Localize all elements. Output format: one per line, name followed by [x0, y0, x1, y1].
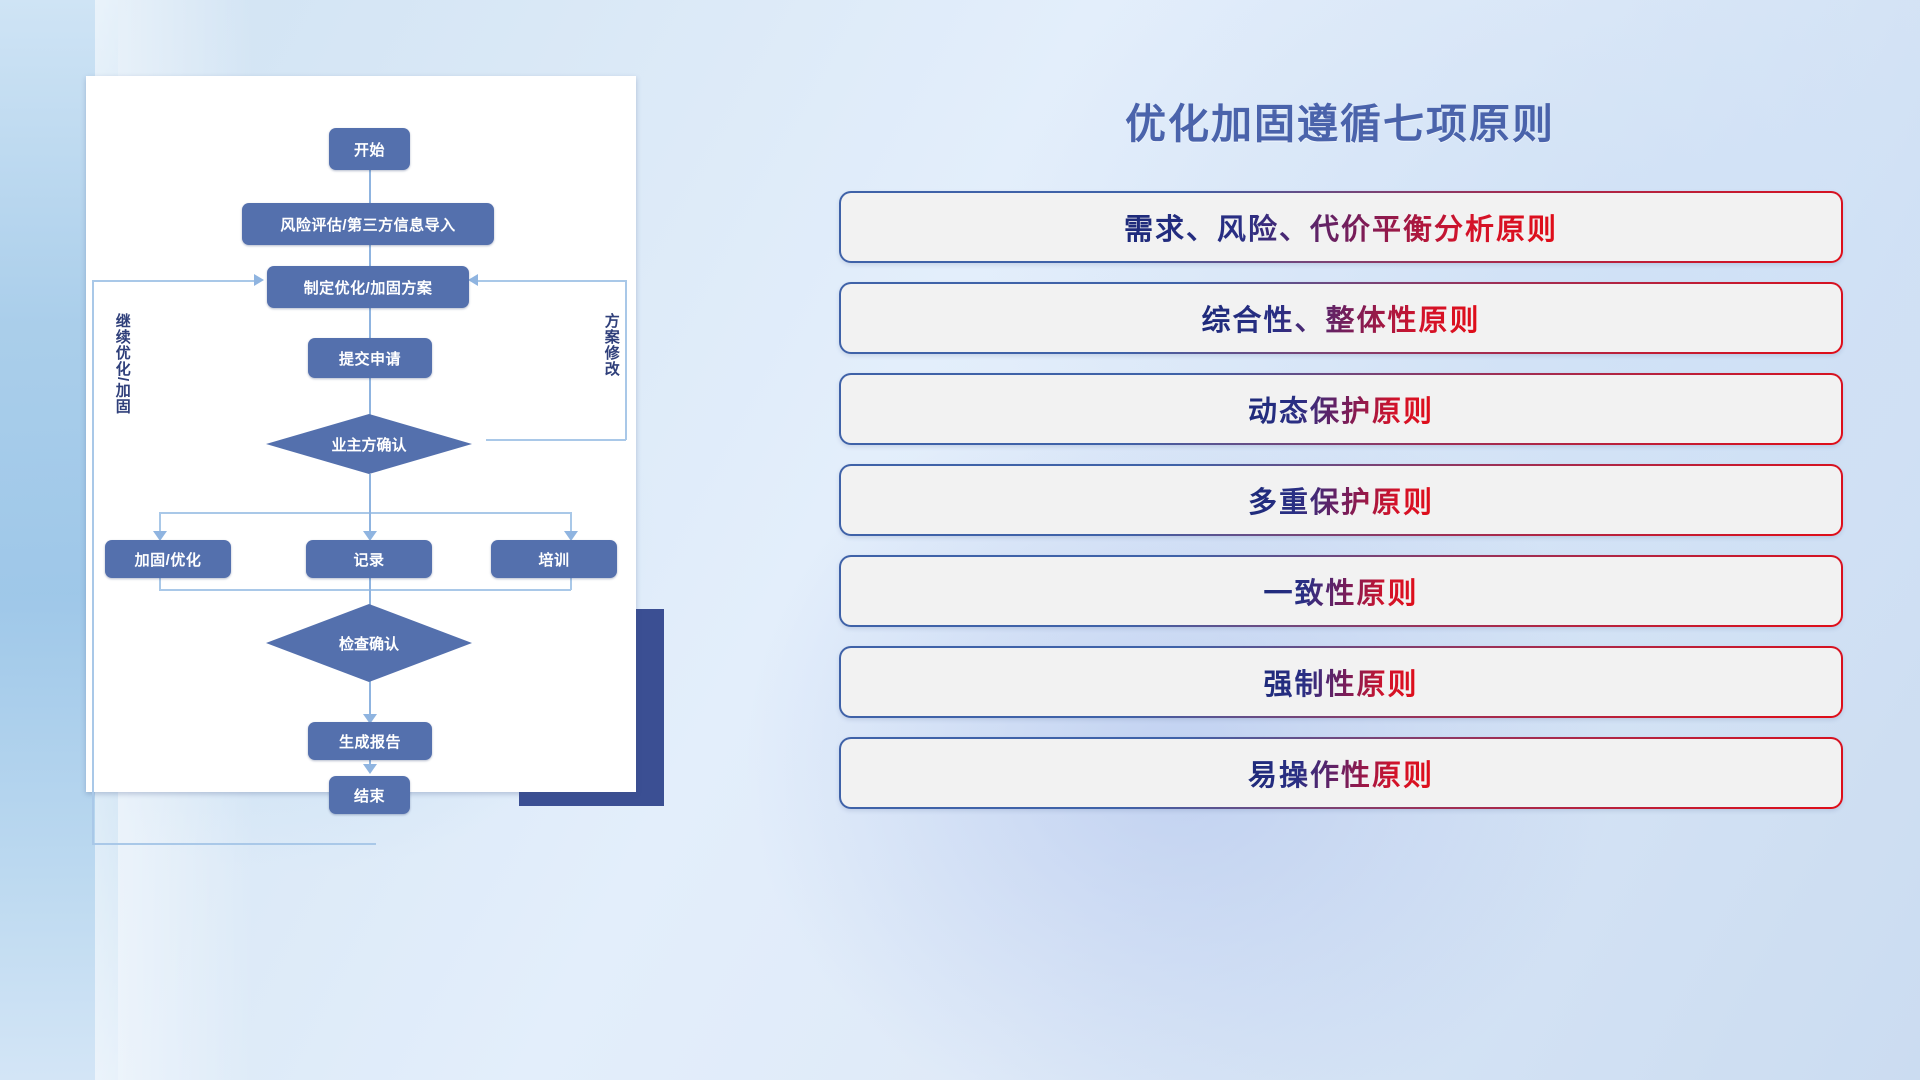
right-loop-top [478, 280, 626, 282]
principle-card-4-label: 多重保护原则 [1248, 479, 1434, 521]
node-training-label: 培训 [538, 549, 569, 570]
node-record[interactable]: 记录 [306, 540, 432, 578]
principle-card-5[interactable]: 一致性原则 [839, 555, 1843, 627]
left-loop-bottom [92, 843, 376, 845]
node-end[interactable]: 结束 [329, 776, 410, 814]
node-start-label: 开始 [354, 139, 385, 160]
fanin-bottom-bar [159, 589, 571, 591]
left-loop-vertical [92, 280, 94, 844]
arrow-report-to-end [363, 764, 377, 774]
node-start[interactable]: 开始 [329, 128, 410, 170]
principles-title: 优化加固遵循七项原则 [835, 90, 1845, 150]
principle-card-6[interactable]: 强制性原则 [839, 646, 1843, 718]
principles-panel: 优化加固遵循七项原则 需求、风险、代价平衡分析原则 综合性、整体性原则 动态保护… [835, 70, 1845, 1030]
principle-card-1-label: 需求、风险、代价平衡分析原则 [1124, 206, 1558, 248]
node-record-label: 记录 [353, 549, 384, 570]
node-check-confirm-label: 检查确认 [339, 633, 399, 654]
node-owner-confirm-label: 业主方确认 [331, 434, 406, 455]
principle-card-6-label: 强制性原则 [1263, 661, 1418, 703]
node-reinforce-optimize[interactable]: 加固/优化 [105, 540, 231, 578]
node-risk-assessment-label: 风险评估/第三方信息导入 [280, 214, 455, 235]
right-loop-arrowhead [468, 274, 478, 286]
edge-label-left-loop: 继续优化/加固 [114, 313, 130, 414]
left-loop-arrowhead [254, 274, 264, 286]
right-loop-bottom [486, 439, 626, 441]
left-loop-top [92, 280, 260, 282]
principle-card-2-label: 综合性、整体性原则 [1201, 297, 1480, 339]
principle-card-1[interactable]: 需求、风险、代价平衡分析原则 [839, 191, 1843, 263]
node-end-label: 结束 [354, 785, 385, 806]
node-training[interactable]: 培训 [491, 540, 617, 578]
edge-label-right-loop: 方案修改 [603, 313, 619, 377]
principle-card-2[interactable]: 综合性、整体性原则 [839, 282, 1843, 354]
edge-owner-to-fanout [369, 474, 371, 514]
principle-card-4[interactable]: 多重保护原则 [839, 464, 1843, 536]
fanout-top-bar [159, 512, 571, 514]
node-risk-assessment[interactable]: 风险评估/第三方信息导入 [242, 203, 494, 245]
node-generate-report-label: 生成报告 [339, 731, 401, 752]
node-make-plan-label: 制定优化/加固方案 [304, 277, 433, 298]
node-owner-confirm[interactable]: 业主方确认 [266, 414, 472, 474]
principle-card-5-label: 一致性原则 [1263, 570, 1418, 612]
flowchart-card: 继续优化/加固 方案修改 [86, 76, 636, 792]
node-check-confirm[interactable]: 检查确认 [266, 604, 472, 682]
principle-card-3[interactable]: 动态保护原则 [839, 373, 1843, 445]
node-generate-report[interactable]: 生成报告 [308, 722, 432, 760]
right-loop-vertical [625, 280, 627, 440]
node-submit-application[interactable]: 提交申请 [308, 338, 432, 378]
node-make-plan[interactable]: 制定优化/加固方案 [267, 266, 469, 308]
slide-canvas: 继续优化/加固 方案修改 [0, 0, 1920, 1080]
principle-card-3-label: 动态保护原则 [1248, 388, 1434, 430]
principle-card-7[interactable]: 易操作性原则 [839, 737, 1843, 809]
node-submit-application-label: 提交申请 [339, 348, 401, 369]
principle-card-7-label: 易操作性原则 [1248, 752, 1434, 794]
node-reinforce-optimize-label: 加固/优化 [135, 549, 202, 570]
